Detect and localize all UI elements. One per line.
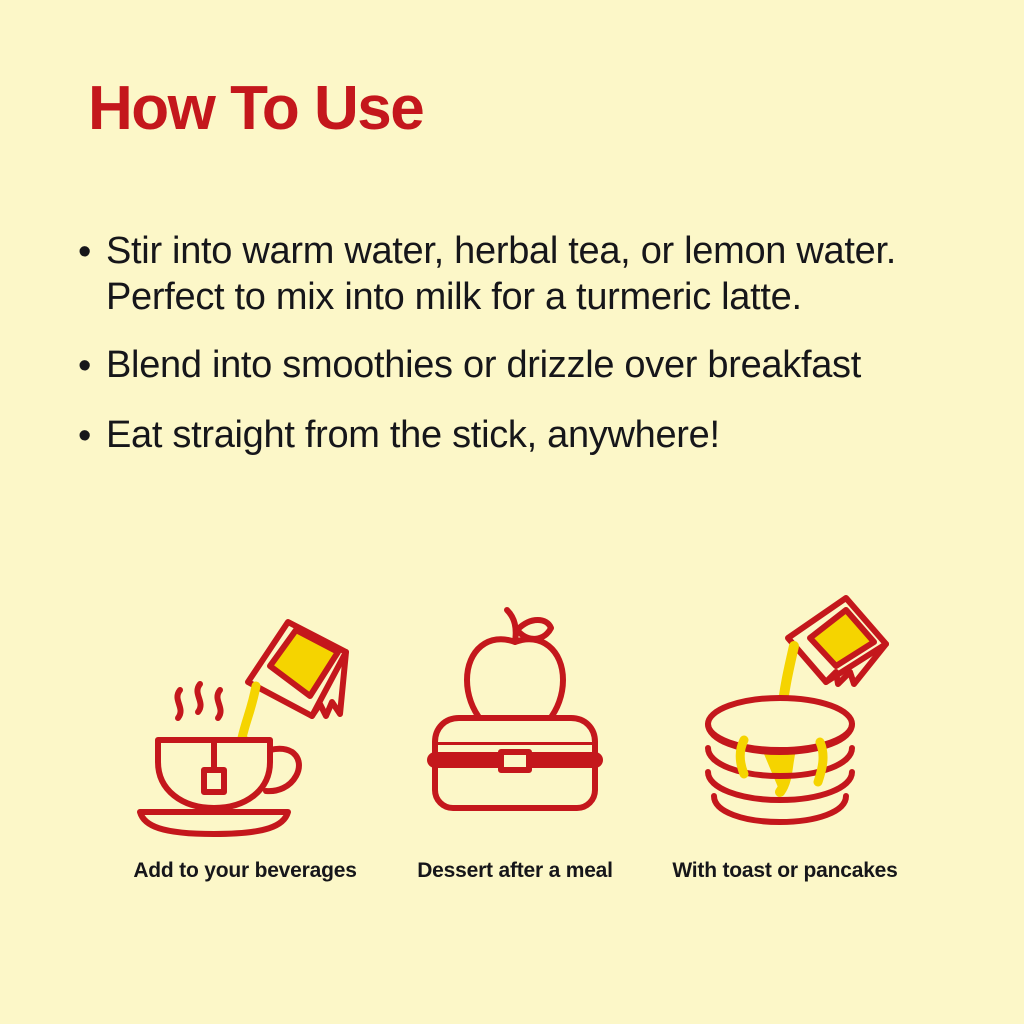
list-item: • Stir into warm water, herbal tea, or l… [72,228,952,320]
usage-icon-pancakes: With toast or pancakes [660,590,910,884]
usage-icons-row: Add to your beverages [120,590,910,884]
list-item-text: Blend into smoothies or drizzle over bre… [106,342,952,388]
list-item: • Eat straight from the stick, anywhere! [72,412,952,460]
usage-icon-beverages: Add to your beverages [120,590,370,884]
bullet-marker-icon: • [72,342,106,390]
usage-bullet-list: • Stir into warm water, herbal tea, or l… [72,228,952,482]
usage-icon-caption: With toast or pancakes [672,858,897,884]
how-to-use-card: How To Use • Stir into warm water, herba… [0,0,1024,1024]
pancake-stack-with-sachet-icon [670,590,900,840]
list-item-text: Stir into warm water, herbal tea, or lem… [106,228,952,320]
usage-icon-caption: Add to your beverages [133,858,356,884]
usage-icon-caption: Dessert after a meal [417,858,613,884]
usage-icon-dessert: Dessert after a meal [390,590,640,884]
bullet-marker-icon: • [72,228,106,276]
list-item: • Blend into smoothies or drizzle over b… [72,342,952,390]
teacup-with-sachet-icon [130,590,360,840]
bullet-marker-icon: • [72,412,106,460]
page-title: How To Use [88,78,423,140]
list-item-text: Eat straight from the stick, anywhere! [106,412,952,458]
apple-on-lunchbox-icon [415,590,615,840]
